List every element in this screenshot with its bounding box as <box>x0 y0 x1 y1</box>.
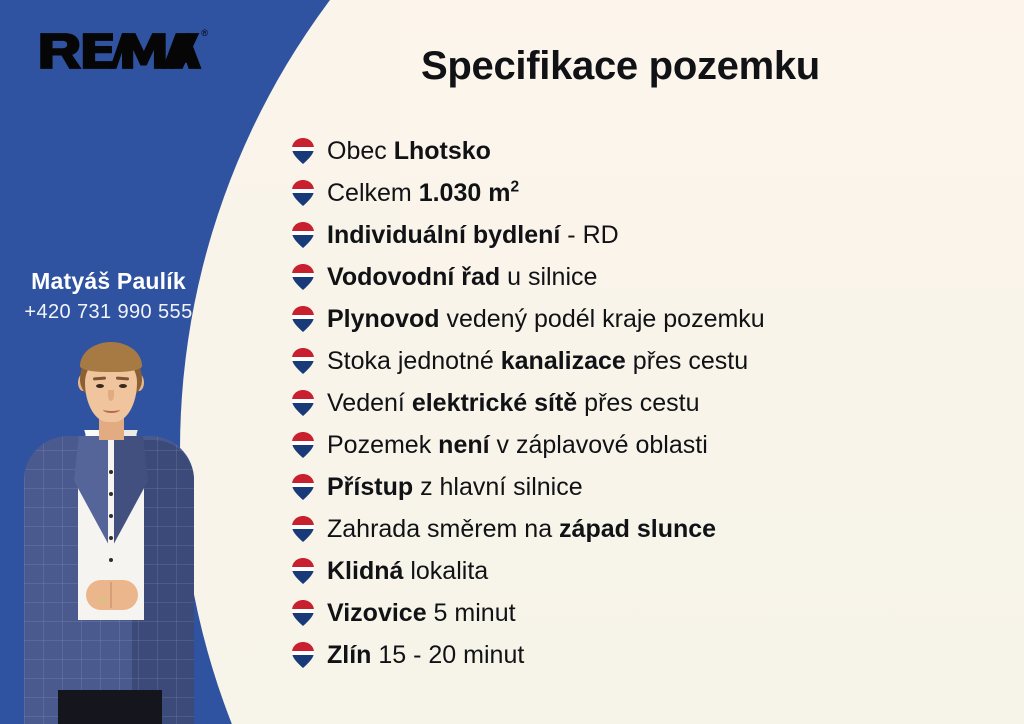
remax-balloon-icon <box>292 180 314 206</box>
spec-item-highlight: Klidná <box>327 557 403 585</box>
spec-item-highlight: Vodovodní řad <box>327 263 500 291</box>
eye-left <box>96 384 104 388</box>
shirt-button <box>109 492 113 496</box>
spec-content: Specifikace pozemku Obec Lhotsko Celkem … <box>217 0 1024 724</box>
remax-balloon-icon <box>292 558 314 584</box>
shirt-button <box>109 536 113 540</box>
hands-shape <box>86 580 138 610</box>
shirt-button <box>109 514 113 518</box>
eye-right <box>119 384 127 388</box>
spec-list-item: Vizovice 5 minut <box>292 593 1022 635</box>
agent-phone[interactable]: +420 731 990 555 <box>0 300 217 324</box>
trademark-symbol: ® <box>201 29 208 38</box>
spec-item-highlight: Plynovod <box>327 305 440 333</box>
spec-list-item: Vedení elektrické sítě přes cestu <box>292 383 1022 425</box>
spec-item-text: Stoka jednotné kanalizace přes cestu <box>327 348 748 376</box>
spec-item-highlight: Lhotsko <box>394 137 491 165</box>
remax-balloon-icon <box>292 642 314 668</box>
remax-balloon-icon <box>292 348 314 374</box>
mouth <box>103 406 120 413</box>
spec-list-item: Stoka jednotné kanalizace přes cestu <box>292 341 1022 383</box>
specification-list: Obec Lhotsko Celkem 1.030 m2 Individuáln… <box>292 131 1022 677</box>
remax-logo: ® <box>38 26 206 76</box>
ring <box>99 598 106 602</box>
spec-item-highlight: Vizovice <box>327 599 427 627</box>
remax-balloon-icon <box>292 138 314 164</box>
photo-bottom-fade <box>0 714 217 724</box>
spec-item-highlight: Individuální bydlení <box>327 221 560 249</box>
spec-list-item: Přístup z hlavní silnice <box>292 467 1022 509</box>
spec-item-text: Obec Lhotsko <box>327 138 491 166</box>
hand-separation-line <box>110 582 112 608</box>
shirt-button <box>109 558 113 562</box>
spec-item-highlight: Přístup <box>327 473 413 501</box>
page-title: Specifikace pozemku <box>217 44 1024 89</box>
spec-list-item: Individuální bydlení - RD <box>292 215 1022 257</box>
spec-list-item: Zahrada směrem na západ slunce <box>292 509 1022 551</box>
spec-list-item: Zlín 15 - 20 minut <box>292 635 1022 677</box>
spec-item-text: Vizovice 5 minut <box>327 600 516 628</box>
remax-balloon-icon <box>292 432 314 458</box>
spec-item-highlight: západ slunce <box>559 515 716 543</box>
spec-item-text: Zahrada směrem na západ slunce <box>327 516 716 544</box>
spec-item-text: Pozemek není v záplavové oblasti <box>327 432 708 460</box>
remax-balloon-icon <box>292 264 314 290</box>
spec-list-item: Klidná lokalita <box>292 551 1022 593</box>
remax-balloon-icon <box>292 306 314 332</box>
unit-superscript: 2 <box>510 179 519 196</box>
spec-list-item: Vodovodní řad u silnice <box>292 257 1022 299</box>
hair-highlight <box>80 342 142 372</box>
spec-item-text: Zlín 15 - 20 minut <box>327 642 524 670</box>
spec-item-highlight: kanalizace <box>501 347 626 375</box>
remax-balloon-icon <box>292 390 314 416</box>
spec-item-text: Individuální bydlení - RD <box>327 222 619 250</box>
spec-list-item: Pozemek není v záplavové oblasti <box>292 425 1022 467</box>
spec-item-highlight: není <box>438 431 489 459</box>
spec-item-text: Vedení elektrické sítě přes cestu <box>327 390 700 418</box>
remax-balloon-icon <box>292 600 314 626</box>
spec-item-text: Přístup z hlavní silnice <box>327 474 583 502</box>
remax-balloon-icon <box>292 516 314 542</box>
agent-photo <box>0 330 217 724</box>
spec-item-text: Celkem 1.030 m2 <box>327 180 519 208</box>
shirt-button <box>109 470 113 474</box>
nose <box>108 390 114 401</box>
spec-item-text: Plynovod vedený podél kraje pozemku <box>327 306 765 334</box>
spec-item-highlight: Zlín <box>327 641 371 669</box>
spec-item-highlight: 1.030 m2 <box>419 179 519 207</box>
spec-list-item: Obec Lhotsko <box>292 131 1022 173</box>
spec-item-text: Vodovodní řad u silnice <box>327 264 597 292</box>
spec-list-item: Celkem 1.030 m2 <box>292 173 1022 215</box>
remax-balloon-icon <box>292 222 314 248</box>
property-spec-card: ® Matyáš Paulík +420 731 990 555 <box>0 0 1024 724</box>
spec-list-item: Plynovod vedený podél kraje pozemku <box>292 299 1022 341</box>
remax-balloon-icon <box>292 474 314 500</box>
spec-item-text: Klidná lokalita <box>327 558 488 586</box>
agent-name: Matyáš Paulík <box>0 268 217 296</box>
spec-item-highlight: elektrické sítě <box>412 389 577 417</box>
agent-contact-block: Matyáš Paulík +420 731 990 555 <box>0 268 217 324</box>
